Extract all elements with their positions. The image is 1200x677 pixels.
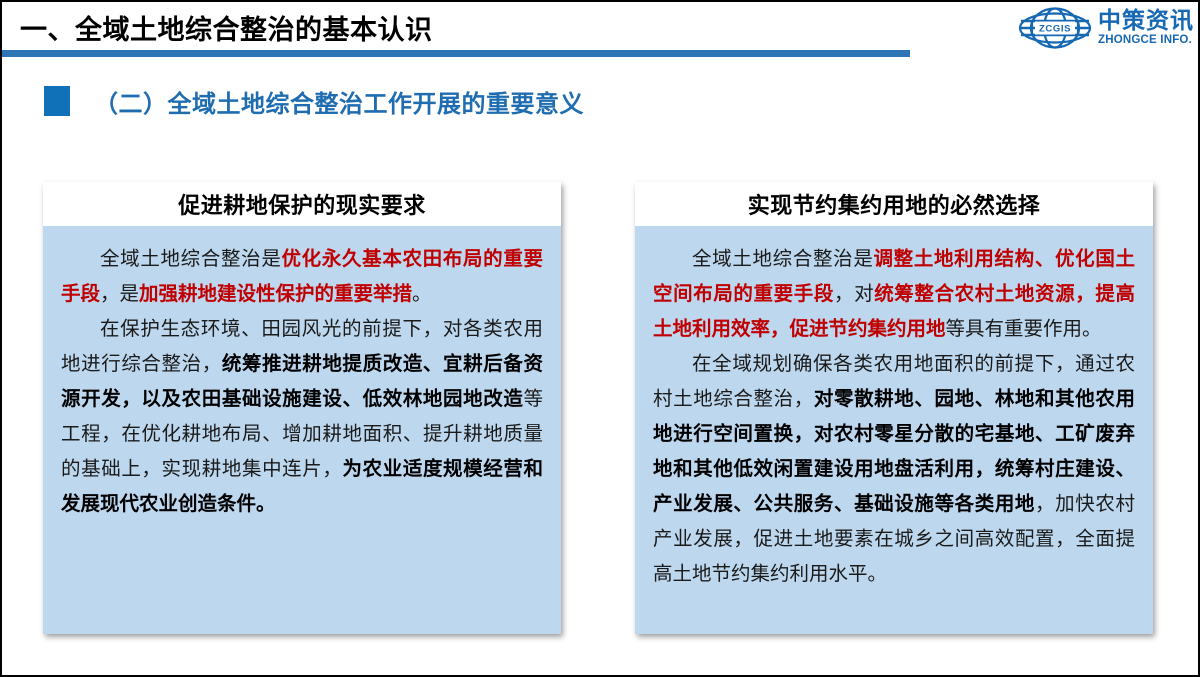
brand-text: 中策资讯 ZHONGCE INFO. [1098, 9, 1194, 47]
brand-name-en: ZHONGCE INFO. [1098, 35, 1194, 47]
section-subtitle: （二）全域土地综合整治工作开展的重要意义 [2, 84, 1200, 118]
slide: 一、全域土地综合整治的基本认识 ZCGIS [0, 0, 1200, 677]
text-run: 。 [412, 283, 432, 305]
card-left-header: 促进耕地保护的现实要求 [43, 182, 561, 226]
brand-name-cn: 中策资讯 [1098, 9, 1194, 32]
paragraph: 全域土地综合整治是优化永久基本农田布局的重要手段，是加强耕地建设性保护的重要举措… [61, 242, 543, 312]
subtitle-label: （二）全域土地综合整治工作开展的重要意义 [94, 84, 584, 119]
globe-icon: ZCGIS [1018, 7, 1092, 49]
page-title: 一、全域土地综合整治的基本认识 [20, 8, 433, 47]
card-left: 促进耕地保护的现实要求 全域土地综合整治是优化永久基本农田布局的重要手段，是加强… [43, 182, 561, 634]
card-right-body: 全域土地综合整治是调整土地利用结构、优化国土空间布局的重要手段，对统筹整合农村土… [635, 226, 1153, 634]
card-right-title: 实现节约集约用地的必然选择 [748, 188, 1041, 220]
paragraph: 全域土地综合整治是调整土地利用结构、优化国土空间布局的重要手段，对统筹整合农村土… [653, 242, 1135, 347]
text-run: ，是 [100, 283, 139, 305]
header-rule [2, 50, 910, 57]
card-right: 实现节约集约用地的必然选择 全域土地综合整治是调整土地利用结构、优化国土空间布局… [635, 182, 1153, 634]
subtitle-marker [44, 86, 70, 116]
text-run: 加强耕地建设性保护的重要举措 [139, 283, 412, 305]
paragraph: 在全域规划确保各类农用地面积的前提下，通过农村土地综合整治，对零散耕地、园地、林… [653, 347, 1135, 592]
text-run: 等具有重要作用。 [946, 318, 1102, 340]
slide-header: 一、全域土地综合整治的基本认识 ZCGIS [2, 2, 1200, 58]
svg-text:ZCGIS: ZCGIS [1039, 24, 1071, 35]
card-left-title: 促进耕地保护的现实要求 [178, 188, 426, 220]
text-run: 全域土地综合整治是 [692, 248, 874, 270]
text-run: 全域土地综合整治是 [100, 248, 282, 270]
paragraph: 在保护生态环境、田园风光的前提下，对各类农用地进行综合整治，统筹推进耕地提质改造… [61, 312, 543, 522]
brand-logo: ZCGIS 中策资讯 ZHONGCE INFO. [1018, 6, 1194, 50]
content-cards: 促进耕地保护的现实要求 全域土地综合整治是优化永久基本农田布局的重要手段，是加强… [2, 182, 1200, 637]
card-left-body: 全域土地综合整治是优化永久基本农田布局的重要手段，是加强耕地建设性保护的重要举措… [43, 226, 561, 634]
card-right-header: 实现节约集约用地的必然选择 [635, 182, 1153, 226]
text-run: ，对 [834, 283, 874, 305]
